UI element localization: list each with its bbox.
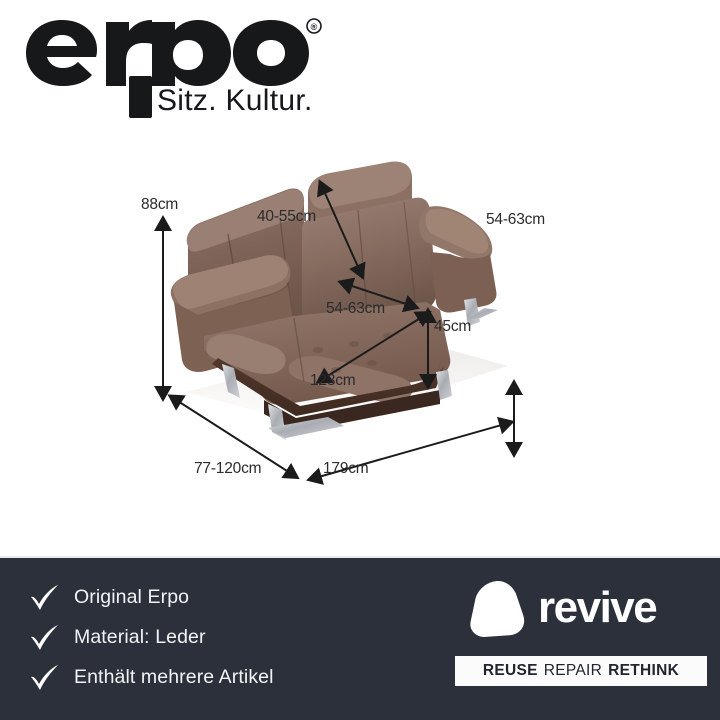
feature-label: Material: Leder: [74, 628, 206, 648]
brand-logo: ® Sitz. Kultur.: [24, 14, 324, 118]
feature-item: Enthält mehrere Artikel: [30, 658, 410, 698]
arrow-headrest-depth: [320, 182, 363, 278]
dim-label-seat-width: 123cm: [310, 372, 356, 390]
pebble-icon: [466, 578, 528, 640]
feature-item: Material: Leder: [30, 618, 410, 658]
check-icon: [30, 625, 74, 651]
dimension-overlay: 88cm 40-55cm 54-63cm 54-63cm 45cm 123cm …: [0, 150, 720, 510]
dim-label-back-height: 88cm: [141, 196, 178, 214]
dim-label-seat-height: 45cm: [434, 318, 471, 336]
check-icon: [30, 585, 74, 611]
feature-list: Original Erpo Material: Leder Enthält me…: [30, 578, 410, 698]
dim-label-total-width: 179cm: [323, 460, 369, 478]
dim-label-arm-height: 54-63cm: [486, 211, 545, 229]
brand-slogan: Sitz. Kultur.: [157, 84, 313, 117]
footer-bar: Original Erpo Material: Leder Enthält me…: [0, 556, 720, 720]
tagline-word-rethink: RETHINK: [608, 662, 679, 680]
dim-label-total-depth: 77-120cm: [194, 460, 261, 478]
revive-tagline-bar: REUSE REPAIR RETHINK: [455, 656, 707, 686]
feature-item: Original Erpo: [30, 578, 410, 618]
trademark-letter: ®: [311, 22, 318, 32]
tagline-word-repair: REPAIR: [544, 662, 602, 680]
dim-label-seat-depth: 54-63cm: [326, 300, 385, 318]
feature-label: Enthält mehrere Artikel: [74, 668, 274, 688]
revive-wordmark-text: revive: [538, 584, 656, 632]
dim-label-headrest-depth: 40-55cm: [257, 208, 316, 226]
check-icon: [30, 665, 74, 691]
product-image-canvas: ® Sitz. Kultur.: [0, 0, 720, 720]
revive-wordmark: revive: [538, 584, 690, 634]
feature-label: Original Erpo: [74, 588, 189, 608]
tagline-word-reuse: REUSE: [483, 662, 538, 680]
footer-divider: [0, 556, 720, 558]
revive-logo: revive: [466, 576, 696, 654]
